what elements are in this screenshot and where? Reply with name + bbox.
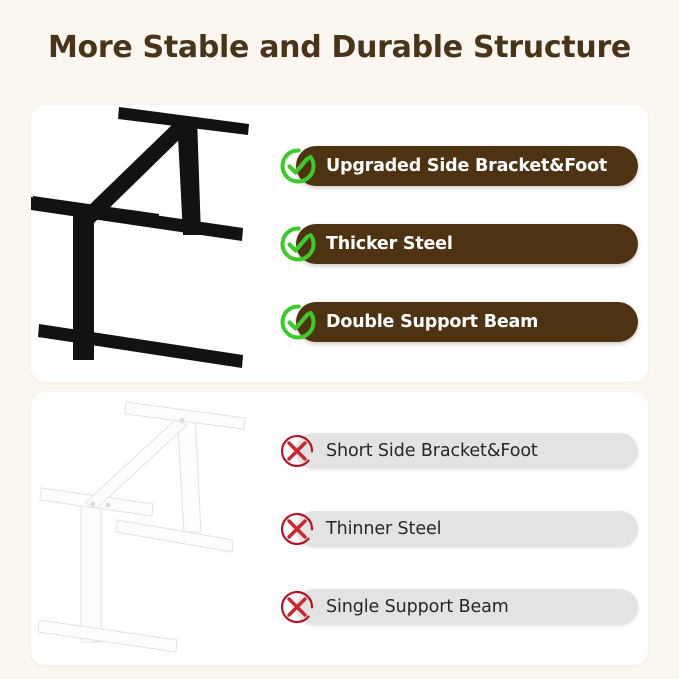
- feature-row[interactable]: Double Support Beam: [278, 302, 648, 342]
- feature-row[interactable]: Thicker Steel: [278, 224, 648, 264]
- feature-label: Thicker Steel: [326, 234, 453, 254]
- feature-label: Upgraded Side Bracket&Foot: [326, 156, 607, 176]
- page-title: More Stable and Durable Structure: [0, 30, 679, 65]
- x-circle-icon: [278, 588, 316, 626]
- upgraded-feature-list: Upgraded Side Bracket&Foot Thicker Steel…: [278, 105, 648, 382]
- feature-row[interactable]: Upgraded Side Bracket&Foot: [278, 146, 648, 186]
- check-circle-icon: [278, 302, 318, 342]
- feature-label: Short Side Bracket&Foot: [326, 441, 538, 461]
- feature-row[interactable]: Thinner Steel: [278, 509, 648, 549]
- feature-label: Single Support Beam: [326, 597, 509, 617]
- feature-label: Double Support Beam: [326, 312, 538, 332]
- check-circle-icon: [278, 146, 318, 186]
- x-circle-icon: [278, 432, 316, 470]
- standard-feature-list: Short Side Bracket&Foot Thinner Steel Si…: [278, 392, 648, 665]
- upgraded-product-card: Upgraded Side Bracket&Foot Thicker Steel…: [31, 105, 648, 382]
- x-circle-icon: [278, 510, 316, 548]
- white-desk-frame-illustration: [31, 392, 283, 665]
- black-desk-frame-illustration: [31, 105, 283, 382]
- standard-product-card: Short Side Bracket&Foot Thinner Steel Si…: [31, 392, 648, 665]
- feature-row[interactable]: Single Support Beam: [278, 587, 648, 627]
- feature-row[interactable]: Short Side Bracket&Foot: [278, 431, 648, 471]
- feature-label: Thinner Steel: [326, 519, 441, 539]
- check-circle-icon: [278, 224, 318, 264]
